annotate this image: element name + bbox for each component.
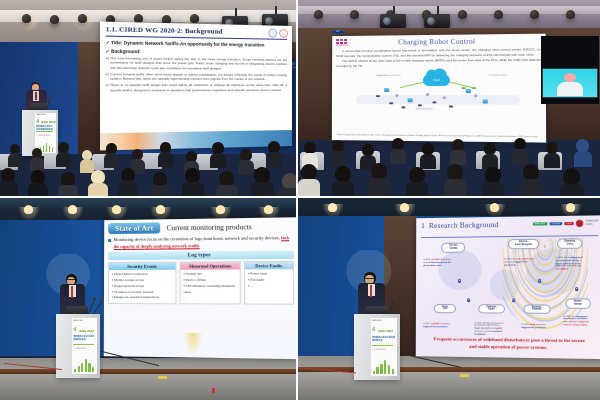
slide-check-2-text: Background: [111,49,140,55]
cable-connector [460,374,469,377]
lectern-sign: IEEE PES 4 IEEE 2023 第四届电力系统与绿色能源国际会议 CO… [371,318,398,376]
lectern-sign-small: CONFERENCE [74,348,87,350]
ceiling-light [328,203,337,212]
water-bottle [212,388,215,393]
audience-member [30,148,44,170]
map-bubble: Toronto,Canada [441,242,465,252]
list-item: … [183,295,236,301]
ceiling [298,0,600,30]
slide-check-1-text: Title: Dynamic Network Tariffs-An opport… [111,40,264,48]
projection-screen: 1Research Background IEEE PES ICPSGE 202… [416,215,600,359]
slide-header: State of Art Current monitoring products [108,220,294,234]
cloud-icon: Cloud [423,74,450,85]
audience-member [88,170,108,198]
slide-item: b) Current network tariffs often send mi… [110,72,287,82]
video-call-window[interactable] [542,68,598,98]
audience-member [420,143,436,167]
lectern: IEEE PES 4 IEEE 2023 第四届电力系统与绿色能源国际会议 CO… [354,314,400,380]
map-pin-icon [458,279,461,283]
lectern-sign: IEEE PES 4 IEEE 2023 第四届电力系统与绿色能源国际会议 CO… [72,318,98,374]
audience-member [544,142,560,166]
lectern-sign-top: IEEE PES [36,114,45,116]
lectern-sign-event: IEEE 2023 [41,120,55,124]
slide-paragraph: A cloud-edge-terminal coordination-based… [336,47,541,58]
audience-member [266,141,282,166]
map-note: In 2015, cable resonance triggered the p… [521,324,552,330]
ceiling-light [566,10,575,19]
tag-badge: ICPSGE [549,222,562,225]
audience-member [444,164,466,196]
audience-member [574,139,592,165]
slide-paragraph: The CRCC obtains all the state data of t… [336,58,541,69]
lectern-sign-rule [73,344,93,345]
audience-member [482,143,498,167]
cired-logo-icon [268,28,277,37]
audience-member [482,167,504,198]
lectern-sign-rule [36,131,53,132]
lectern: IEEE PES 4 IEEE 2023 第四届电力系统与绿色能源国际会议 CO… [56,314,100,378]
lectern-sign-small: CONFERENCE [373,349,386,351]
speaker-glasses-icon [67,279,75,281]
ceiling-light [494,10,503,19]
lectern-sign-ordinal: 4 [73,327,76,333]
log-types-table: Security Events Illegal Extra-Connection… [108,261,294,305]
map-pin-icon [538,278,541,282]
ceiling-light [68,205,77,214]
projector [380,14,406,28]
map-bubble: Shanghai,China [557,238,582,248]
map-note: In 2017, unstable resonance triggered th… [423,323,453,329]
audience-member [332,166,354,198]
ceiling-light [490,203,499,212]
ceiling-light [112,205,121,214]
audience-member [182,168,204,198]
lectern-sign-event: IEEE 2023 [379,329,393,333]
audience-member [406,167,428,198]
university-name: 华北电力大学NCEPU [585,221,598,226]
map-note: In 2019, due to charging of the wind pow… [555,257,583,272]
projection-screen: 1.1. CIRED WG 2020-2: Background ✓ Title… [100,22,292,151]
ceiling-light [350,10,359,19]
lectern-sign-event: IEEE 2023 [79,329,93,333]
audience-member [58,172,78,198]
slide-title-suffix: Background [185,28,222,36]
audience-member [210,142,226,167]
slide-item-text: The ever-increasing use of smart meters … [110,56,287,71]
table-title: Log types [108,251,294,260]
map-note: In 2021, the charging of the offshore wi… [563,316,591,328]
slide-item-marker: c) [106,83,109,88]
audience-member [302,142,318,166]
highlight-arrows [182,333,205,359]
ceiling-light [24,205,33,214]
audience-member [158,142,173,166]
lectern-sign-small: CONFERENCE [37,135,50,137]
speaker-tie [35,92,37,100]
audience-member [8,144,22,166]
lectern-sign-top: IEEE PES [73,320,82,322]
map-bubble: Xinjiang,Tianwan [523,304,550,314]
audience-member [28,170,48,198]
list-item: Dangerous operation instructions [112,295,172,301]
slide-item-marker: a) [106,56,109,61]
audience-member [330,140,346,164]
stage-floor [298,356,600,400]
audience-member [450,139,466,163]
slide-bullet: Monitoring device focus on the correntio… [108,235,294,250]
bullet-text: Monitoring device focus on the correntio… [114,235,294,250]
ceiling-light [216,205,225,214]
map-bubble: Hunan,Hainan [565,298,591,308]
projection-screen: State of Art Current monitoring products… [104,217,298,359]
tag-badge: 2023 [564,222,573,225]
map-note: In 2015, unstable disturbance caused dis… [423,259,453,268]
audience-member [250,167,274,198]
photo-collage-grid: EXIT 1.1. CIRED WG 2020-2: Background ✓ … [0,0,600,400]
audience-member [150,172,170,198]
speaker-glasses-icon [365,278,374,280]
panel-top-right: EXIT 电力系统自动化 Charging Robot Control A cl… [298,0,600,198]
university-logo-icon [576,220,583,227]
tag-badge: IEEE PES [533,222,548,225]
speaker-lanyard [370,285,372,297]
ceiling-light [50,15,59,24]
panel-bottom-right: 1Research Background IEEE PES ICPSGE 202… [298,198,600,400]
slide-item-text: Current network tariffs often send mixed… [110,72,287,81]
lectern-sign-rule [372,345,393,346]
list-item: CPU/Memory exceeding threshold value [183,284,236,296]
slide-item-text: There is no specific tariff design that … [110,83,287,92]
lectern-sign-cn: 第四届电力系统与绿色能源国际会议 [73,336,96,341]
audience [0,140,296,196]
ceiling-light [458,10,467,19]
cable-connector [158,376,167,379]
network-diagram: Cloud Charging Robot Control Center Tran… [336,70,542,112]
map-pin-icon [512,298,515,302]
lectern-sign-ordinal: 4 [372,327,375,333]
ceiling-light [400,203,409,212]
ceiling-light [156,205,165,214]
audience-member [216,171,238,198]
audience-member [0,168,18,198]
slide-title: Charging Robot Control [336,37,541,47]
ceiling-light [314,10,323,19]
bullet-marker [108,239,111,242]
lectern-sign-ordinal: 4 [36,119,39,125]
ceiling-light [530,10,539,19]
projector [424,14,450,28]
slide-item: a) The ever-increasing use of smart mete… [110,56,287,71]
ceiling-light [78,14,87,23]
audience-member [104,143,119,167]
wall-sign: EXIT [332,30,344,34]
org-logo-icon [279,29,288,38]
remote-participant-body [557,82,583,97]
audience-member [80,150,94,172]
lectern-sign-bars [74,357,94,372]
section-pill: State of Art [108,222,160,234]
list-item: … [248,284,290,290]
slide-conclusion: Frequent occurrences of wideband disturb… [430,337,588,352]
projection-screen: 电力系统自动化 Charging Robot Control A cloud-e… [332,34,546,143]
audience-member [390,138,406,162]
audience-member [298,164,320,196]
ceiling-light [264,205,273,214]
speaker-lanyard [71,286,73,298]
audience-member [56,142,71,166]
slide-item-marker: b) [106,72,109,77]
map-pin-icon [575,287,578,291]
organization-logo-icon: 电力系统自动化 [336,39,352,50]
audience-member [512,138,528,162]
audience-member [118,168,138,198]
map-bubble: Baotou,Inner Mongolia [508,239,539,249]
lectern-sign-cn: 第四届电力系统与绿色能源国际会议 [372,337,396,342]
panel-top-left: EXIT 1.1. CIRED WG 2020-2: Background ✓ … [0,0,298,198]
table-column-device-faults: Device Faults Power fault Fan faults … [244,261,294,305]
map-bubble: Zafarana,Egypt [478,304,505,314]
audience-member [368,163,390,195]
audience [298,134,600,196]
map-bubble: Texas,USA [434,304,456,314]
lectern-sign-bars [373,359,394,374]
ceiling-light [566,203,575,212]
slide-logos [268,28,288,37]
bullet-main-text: Monitoring device focus on the correntio… [114,235,280,242]
audience-member [560,168,584,198]
stage-floor [0,358,296,400]
lectern-sign-top: IEEE PES [372,320,381,322]
audience-member [520,164,542,196]
slide-headline: Current monitoring products [167,223,252,232]
map-note: In 2013, the sub-synchronous resonance t… [504,259,535,268]
table-column-security-events: Security Events Illegal Extra-Connection… [108,262,176,305]
ceiling-light [190,14,199,23]
ceiling-light [22,14,31,23]
table-column-abnormal-operations: Abnormal Operations Normal use Device of… [179,261,240,304]
map-note: In 2019, filter-fed resonance at the Zaf… [474,322,505,337]
stage-edge [0,369,296,374]
panel-bottom-left: State of Art Current monitoring products… [0,198,298,400]
slide-item: c) There is no specific tariff design th… [110,83,287,93]
audience-member [278,173,298,198]
slide-title-main: 1.1. CIRED WG 2020-2: [106,26,184,35]
map-pin-icon [467,298,470,302]
slide-check-1: ✓ Title: Dynamic Network Tariffs-An oppo… [106,40,287,49]
